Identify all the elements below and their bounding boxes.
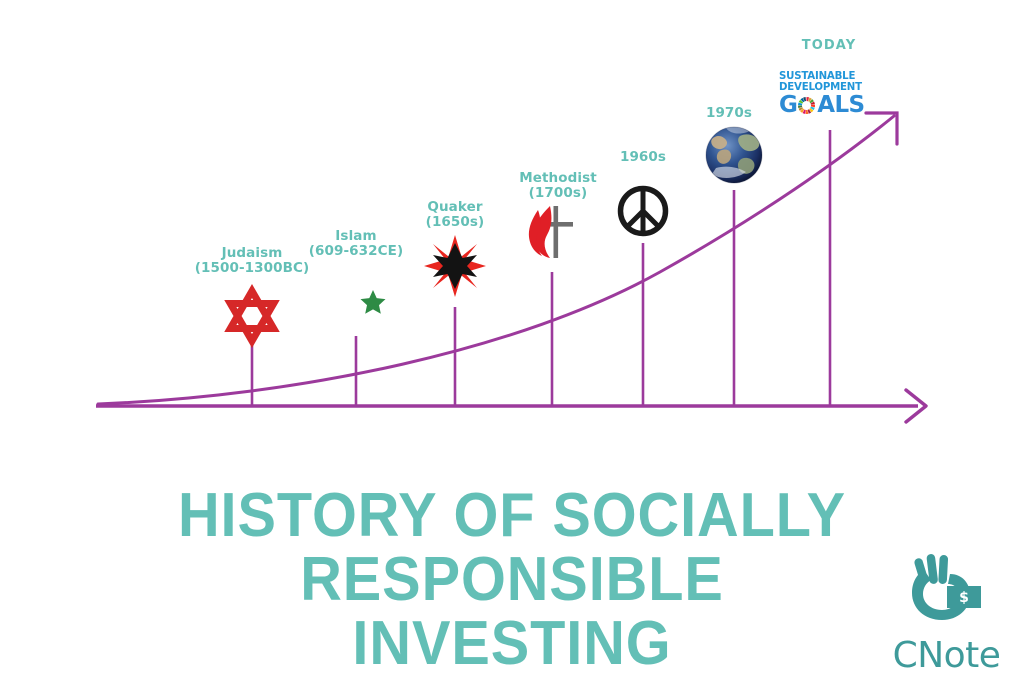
peace-sign-icon bbox=[621, 189, 666, 234]
milestone-label-1970s: 1970s bbox=[706, 106, 752, 121]
star-and-crescent-icon bbox=[338, 271, 386, 323]
sdg-color-wheel-icon bbox=[796, 95, 817, 116]
quaker-star-icon bbox=[424, 235, 486, 297]
milestone-label-line1: Islam bbox=[335, 228, 376, 244]
milestone-label-line1: Judaism bbox=[222, 245, 283, 261]
milestone-label-1960s: 1960s bbox=[620, 150, 666, 165]
page-title-line1: HISTORY OF SOCIALLY bbox=[36, 484, 988, 548]
milestone-label-methodist: Methodist (1700s) bbox=[519, 171, 597, 201]
milestone-label-line2: (1700s) bbox=[519, 186, 597, 201]
sdg-goals-als: ALS bbox=[817, 94, 864, 117]
milestone-label-line2: (1650s) bbox=[426, 215, 485, 230]
cnote-wordmark: CNote bbox=[884, 637, 1009, 675]
earth-globe-icon bbox=[706, 126, 762, 183]
cnote-logo: $ CNote bbox=[884, 552, 1009, 675]
today-label: TODAY bbox=[802, 38, 856, 53]
milestone-label-line1: 1970s bbox=[706, 105, 752, 121]
cnote-hand-holding-dollar-icon: $ bbox=[884, 552, 1009, 634]
milestone-label-line1: 1960s bbox=[620, 149, 666, 165]
sdg-logo-icon: SUSTAINABLE DEVELOPMENT G bbox=[779, 72, 879, 117]
milestone-label-judaism: Judaism (1500-1300BC) bbox=[195, 246, 310, 276]
dollar-symbol: $ bbox=[959, 590, 969, 606]
milestone-label-line1: Methodist bbox=[519, 170, 597, 186]
sdg-goals-g: G bbox=[779, 94, 797, 117]
cross-and-flame-icon bbox=[529, 206, 573, 258]
page-title-line2: RESPONSIBLE bbox=[36, 548, 988, 612]
star-of-david-icon bbox=[230, 291, 273, 341]
sdg-line-sustainable: SUSTAINABLE bbox=[779, 72, 879, 83]
milestone-label-line2: (609-632CE) bbox=[309, 244, 404, 259]
dollar-bill: $ bbox=[947, 586, 981, 608]
infographic-canvas: Judaism (1500-1300BC) Islam (609-632CE) … bbox=[0, 0, 1024, 683]
milestone-label-line2: (1500-1300BC) bbox=[195, 261, 310, 276]
milestone-label-quaker: Quaker (1650s) bbox=[426, 200, 485, 230]
sdg-goals-row: G bbox=[779, 94, 879, 117]
page-title: HISTORY OF SOCIALLY RESPONSIBLE INVESTIN… bbox=[36, 484, 988, 676]
milestone-label-line1: Quaker bbox=[427, 199, 482, 215]
timeline-chart bbox=[0, 0, 1024, 440]
milestone-label-islam: Islam (609-632CE) bbox=[309, 229, 404, 259]
page-title-line3: INVESTING bbox=[36, 612, 988, 676]
